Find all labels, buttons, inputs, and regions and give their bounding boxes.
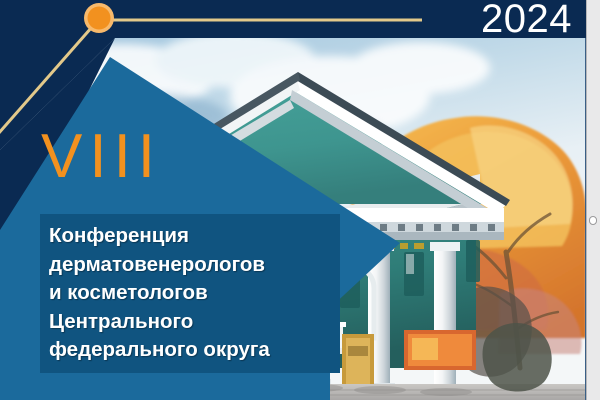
- conference-title-panel: Конференция дерматовенерологов и космето…: [40, 214, 340, 373]
- year-label: 2024: [481, 0, 572, 41]
- title-line-2: дерматовенерологов: [40, 251, 340, 280]
- vertical-scrollbar[interactable]: [586, 0, 600, 400]
- title-line-5: федерального округа: [40, 336, 340, 365]
- title-line-4: Центрального: [40, 308, 340, 337]
- orange-circle-node-ring: [84, 3, 114, 33]
- conference-banner: 2024 VIII Конференция дерматовенерологов…: [0, 0, 600, 400]
- title-line-1: Конференция: [40, 222, 340, 251]
- scrollbar-thumb[interactable]: [589, 216, 597, 225]
- orange-circle-node-core: [88, 7, 111, 30]
- edition-numeral: VIII: [41, 126, 162, 188]
- title-line-3: и косметологов: [40, 279, 340, 308]
